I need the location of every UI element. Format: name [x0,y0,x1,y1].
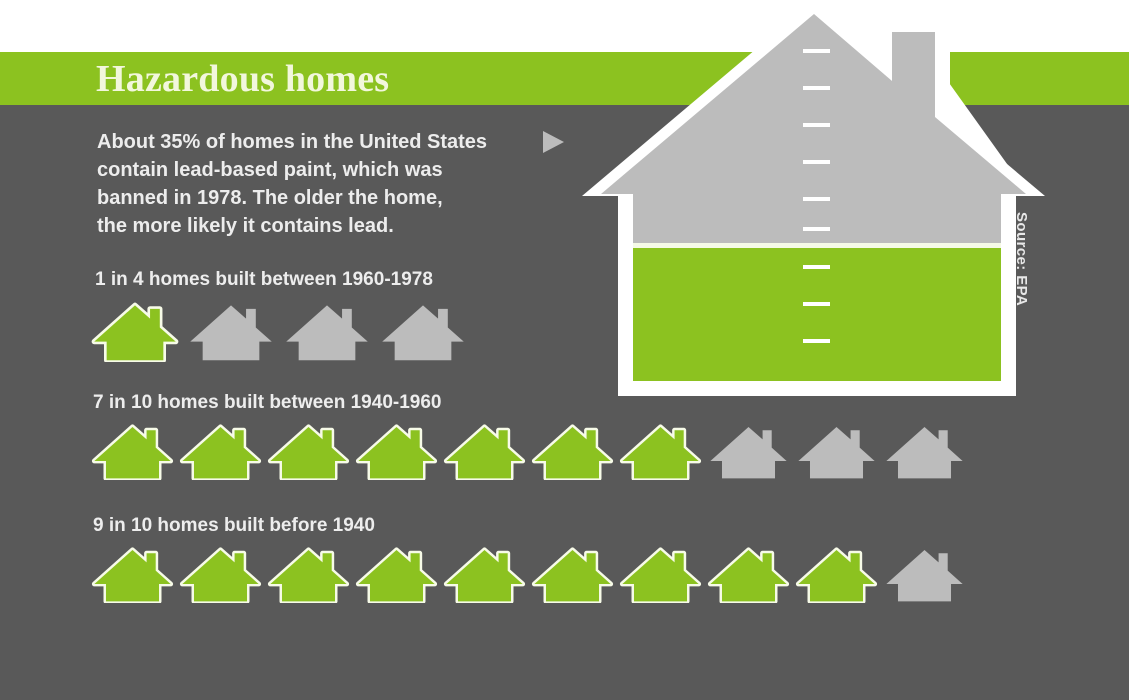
house-icon-filled [442,545,530,603]
house-icon [706,545,791,603]
house-icon-filled [266,422,354,480]
house-icon [378,300,468,362]
house-icon [354,422,439,480]
house-icon-empty [882,422,970,480]
house-icon [530,422,615,480]
house-icon-empty [186,300,282,362]
house-gauge-line [600,243,1040,248]
house-icon [794,422,879,480]
house-icon [178,545,263,603]
house-icon-empty [282,300,378,362]
house-icon-filled [618,422,706,480]
intro-paragraph: About 35% of homes in the United States … [97,128,547,240]
house-icon [90,300,180,362]
house-icon-body [886,427,962,478]
house-icon [442,545,527,603]
page-title: Hazardous homes [96,57,389,101]
intro-line-2: contain lead-based paint, which was [97,156,547,184]
house-icon [282,300,372,362]
house-icon-filled [530,422,618,480]
house-icon-empty [378,300,474,362]
intro-line-3: banned in 1978. The older the home, [97,184,547,212]
house-icon-empty [794,422,882,480]
house-icon [618,422,703,480]
pictogram-row-3-label: 9 in 10 homes built before 1940 [93,515,375,537]
house-icon-filled [706,545,794,603]
house-icon [618,545,703,603]
house-icon [442,422,527,480]
house-icon-filled [178,422,266,480]
house-icon [530,545,615,603]
house-icon [186,300,276,362]
house-icon-filled [530,545,618,603]
pictogram-row-2 [90,422,970,480]
house-gauge-overlay [560,0,1129,400]
house-icon [706,422,791,480]
house-icon-filled [354,422,442,480]
house-icon-body [798,427,874,478]
house-icon [178,422,263,480]
house-icon [90,545,175,603]
house-icon-filled [178,545,266,603]
house-icon [266,422,351,480]
house-icon-body [710,427,786,478]
house-icon-body [286,305,367,360]
house-icon-filled [794,545,882,603]
house-icon-filled [442,422,530,480]
house-icon-body [886,550,962,601]
source-credit: Source: EPA [1013,212,1030,306]
house-icon [266,545,351,603]
house-icon-filled [618,545,706,603]
pictogram-row-1-label: 1 in 4 homes built between 1960-1978 [95,269,433,291]
infographic-root: Hazardous homes About 35% of homes in th… [0,0,1129,700]
intro-line-1: About 35% of homes in the United States [97,128,547,156]
pictogram-row-1 [90,300,474,362]
house-icon-filled [90,422,178,480]
house-icon-body [382,305,463,360]
intro-line-4: the more likely it contains lead. [97,212,547,240]
house-icon-filled [90,300,186,362]
house-icon-filled [354,545,442,603]
house-icon [90,422,175,480]
house-icon [882,545,967,603]
house-icon-empty [882,545,970,603]
house-icon-body [190,305,271,360]
house-icon [354,545,439,603]
house-icon [882,422,967,480]
house-icon [794,545,879,603]
house-icon-filled [90,545,178,603]
pictogram-row-2-label: 7 in 10 homes built between 1940-1960 [93,392,441,414]
triangle-pointer-icon [543,131,564,153]
pictogram-row-3 [90,545,970,603]
house-icon-filled [266,545,354,603]
house-icon-empty [706,422,794,480]
